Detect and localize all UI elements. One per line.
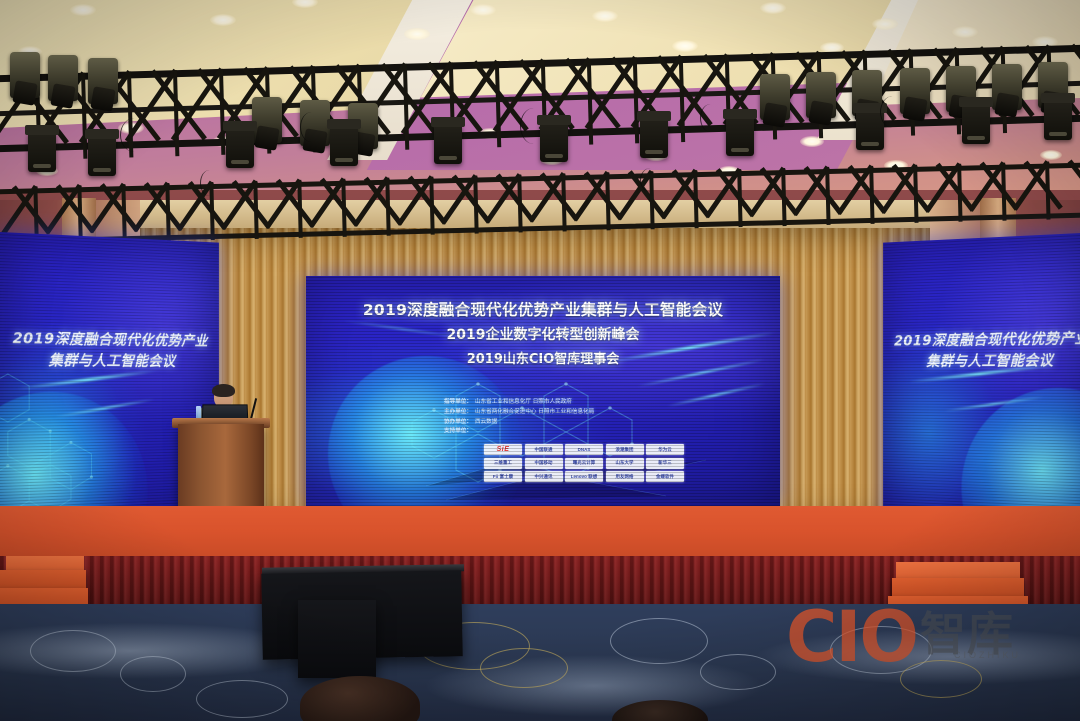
par-can-light bbox=[28, 132, 56, 172]
downlight bbox=[404, 28, 430, 40]
downlight bbox=[872, 18, 898, 30]
hanging-cable bbox=[300, 112, 323, 142]
moving-head-light bbox=[806, 72, 836, 118]
right-banner-line1: 2019深度融合现代化优势产业 bbox=[892, 328, 1080, 352]
organizer-label: 指导单位： bbox=[444, 398, 472, 408]
sponsor-logo-grid: SiE中国联通DNAS浪潮集团华为云三维重工中国移动曙光云计算山东大学新华三Fi… bbox=[484, 444, 684, 482]
sponsor-logo: 金蝶软件 bbox=[646, 471, 684, 482]
organizer-value: 西云数据 bbox=[475, 418, 497, 428]
sponsor-logo: 浪潮集团 bbox=[606, 444, 644, 455]
stage-step-right-mid bbox=[892, 578, 1024, 598]
organizer-row: 指导单位：山东省工业和信息化厅 日照市人民政府 bbox=[444, 398, 594, 408]
hanging-cable bbox=[520, 108, 547, 144]
right-banner-line2: 集群与人工智能会议 bbox=[892, 350, 1080, 372]
organizer-label: 协办单位： bbox=[444, 418, 472, 428]
title-line-2: 2019企业数字化转型创新峰会 bbox=[306, 324, 780, 344]
sponsor-logo: Fii 富士康 bbox=[484, 471, 522, 482]
led-screen-main: 2019深度融合现代化优势产业集群与人工智能会议 2019企业数字化转型创新峰会… bbox=[306, 276, 780, 506]
sponsor-logo: DNAS bbox=[565, 444, 603, 455]
par-can-light bbox=[962, 104, 990, 144]
stage-monitor-left-stand bbox=[298, 600, 376, 678]
organizer-row: 支持单位： bbox=[444, 427, 594, 437]
organizer-value: 山东省两化融合促进中心 日照市工业和信息化局 bbox=[475, 408, 594, 418]
par-can-light bbox=[434, 124, 462, 164]
title-line-1: 2019深度融合现代化优势产业集群与人工智能会议 bbox=[306, 298, 780, 320]
left-banner-line2: 集群与人工智能会议 bbox=[10, 350, 211, 372]
par-can-light bbox=[1044, 100, 1072, 140]
organizer-list: 指导单位：山东省工业和信息化厅 日照市人民政府主办单位：山东省两化融合促进中心 … bbox=[444, 398, 594, 437]
sponsor-logo: 中国移动 bbox=[525, 458, 563, 469]
speaker-hair bbox=[212, 384, 235, 397]
sponsor-logo: 中兴通讯 bbox=[525, 471, 563, 482]
sponsor-logo: Lenovo 联想 bbox=[565, 471, 603, 482]
sponsor-logo: 三维重工 bbox=[484, 458, 522, 469]
par-can-light bbox=[330, 126, 358, 166]
sponsor-logo: 用友网络 bbox=[606, 471, 644, 482]
hanging-cable bbox=[120, 118, 149, 152]
moving-head-light bbox=[48, 55, 78, 101]
organizer-row: 主办单位：山东省两化融合促进中心 日照市工业和信息化局 bbox=[444, 408, 594, 418]
downlight bbox=[760, 2, 786, 14]
downlight bbox=[672, 40, 698, 52]
downlight bbox=[70, 4, 96, 16]
right-banner-text: 2019深度融合现代化优势产业 集群与人工智能会议 bbox=[883, 328, 1080, 372]
moving-head-light bbox=[252, 97, 282, 143]
sponsor-logo: 山东大学 bbox=[606, 458, 644, 469]
stage-step-left-mid bbox=[0, 570, 86, 590]
title-line-3: 2019山东CIO智库理事会 bbox=[306, 348, 780, 367]
hanging-cable bbox=[640, 168, 661, 192]
sponsor-logo: 新华三 bbox=[646, 458, 684, 469]
moving-head-light bbox=[992, 64, 1022, 110]
sponsor-logo: SiE bbox=[484, 444, 522, 455]
organizer-label: 主办单位： bbox=[444, 408, 472, 418]
sponsor-logo: 中国联通 bbox=[525, 444, 563, 455]
sponsor-logo-row: 三维重工中国移动曙光云计算山东大学新华三 bbox=[484, 458, 684, 469]
par-can-light bbox=[88, 136, 116, 176]
sponsor-logo: 曙光云计算 bbox=[565, 458, 603, 469]
hanging-cable bbox=[880, 96, 905, 128]
sponsor-logo-row: SiE中国联通DNAS浪潮集团华为云 bbox=[484, 444, 684, 455]
conference-stage-photo: 2019深度融合现代化优势产业 集群与人工智能会议 2019深度融合现代化优势产… bbox=[0, 0, 1080, 721]
sponsor-logo: 华为云 bbox=[646, 444, 684, 455]
par-can-light bbox=[726, 116, 754, 156]
left-banner-text: 2019深度融合现代化优势产业 集群与人工智能会议 bbox=[0, 328, 219, 372]
stage-platform bbox=[0, 506, 1080, 562]
hanging-cable bbox=[200, 170, 219, 196]
patterned-carpet bbox=[0, 604, 1080, 721]
led-screen-right: 2019深度融合现代化优势产业 集群与人工智能会议 bbox=[883, 232, 1080, 532]
moving-head-light bbox=[88, 58, 118, 104]
downlight bbox=[952, 26, 978, 38]
downlight bbox=[592, 10, 618, 22]
organizer-row: 协办单位：西云数据 bbox=[444, 418, 594, 428]
moving-head-light bbox=[10, 52, 40, 98]
hanging-cable bbox=[700, 104, 721, 132]
par-can-light bbox=[226, 128, 254, 168]
par-can-light bbox=[640, 118, 668, 158]
downlight bbox=[470, 4, 496, 16]
main-screen-title: 2019深度融合现代化优势产业集群与人工智能会议 2019企业数字化转型创新峰会… bbox=[306, 298, 780, 367]
organizer-value: 山东省工业和信息化厅 日照市人民政府 bbox=[475, 398, 572, 408]
sponsor-logo-row: Fii 富士康中兴通讯Lenovo 联想用友网络金蝶软件 bbox=[484, 471, 684, 482]
organizer-label: 支持单位： bbox=[444, 427, 472, 437]
left-banner-line1: 2019深度融合现代化优势产业 bbox=[10, 328, 211, 352]
downlight bbox=[210, 14, 236, 26]
moving-head-light bbox=[760, 74, 790, 120]
